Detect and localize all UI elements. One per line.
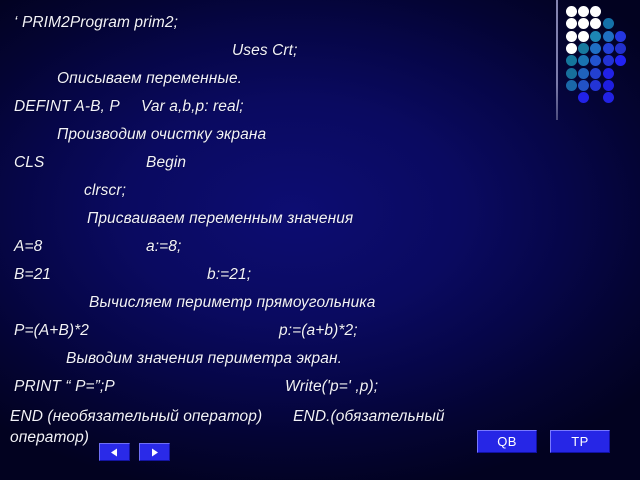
code-line-left: Выводим значения периметра экран.: [66, 350, 342, 368]
code-line-left: A=8: [14, 238, 42, 256]
code-line: Производим очистку экрана: [0, 126, 640, 154]
navigation-buttons: [99, 443, 170, 461]
code-line-right: Var a,b,p: real;: [141, 98, 244, 116]
code-line: ‘ PRIM2Program prim2;: [0, 14, 640, 42]
code-line: clrscr;: [0, 182, 640, 210]
code-line-left: Производим очистку экрана: [57, 126, 266, 144]
code-line-left: B=21: [14, 266, 51, 284]
previous-slide-button[interactable]: [99, 443, 130, 461]
triangle-right-icon: [149, 447, 160, 458]
code-line-right: p:=(a+b)*2;: [279, 322, 358, 340]
code-line-right: clrscr;: [84, 182, 126, 200]
code-line: CLSBegin: [0, 154, 640, 182]
slide-text-body: ‘ PRIM2Program prim2;Uses Crt;Описываем …: [0, 14, 640, 452]
code-line-left: DEFINT A-B, P: [14, 98, 120, 116]
code-line-left: P=(A+B)*2: [14, 322, 89, 340]
code-line: PRINT “ P=”;PWrite('p=' ,p);: [0, 378, 640, 406]
code-line: Присваиваем переменным значения: [0, 210, 640, 238]
code-line-left: Присваиваем переменным значения: [87, 210, 353, 228]
triangle-left-icon: [109, 447, 120, 458]
code-line-left: ‘ PRIM2Program prim2;: [14, 14, 178, 32]
code-line: Выводим значения периметра экран.: [0, 350, 640, 378]
qb-button[interactable]: QB: [477, 430, 537, 453]
code-line-final-text: END (необязательный оператор) END.(обяза…: [10, 406, 520, 448]
code-line: Uses Crt;: [0, 42, 640, 70]
slide-canvas: ‘ PRIM2Program prim2;Uses Crt;Описываем …: [0, 0, 640, 480]
code-line: Вычисляем периметр прямоугольника: [0, 294, 640, 322]
code-line-right: Write('p=' ,p);: [285, 378, 378, 396]
tp-button[interactable]: TP: [550, 430, 610, 453]
code-line-left: Вычисляем периметр прямоугольника: [89, 294, 375, 312]
code-line-left: Описываем переменные.: [57, 70, 242, 88]
code-line-right: a:=8;: [146, 238, 181, 256]
code-line-right: b:=21;: [207, 266, 251, 284]
code-line: B=21b:=21;: [0, 266, 640, 294]
code-line: DEFINT A-B, PVar a,b,p: real;: [0, 98, 640, 126]
code-line-right: Uses Crt;: [232, 42, 298, 60]
code-line: P=(A+B)*2p:=(a+b)*2;: [0, 322, 640, 350]
code-line-left: CLS: [14, 154, 44, 172]
language-buttons: QB TP: [477, 430, 610, 453]
code-line-right: Begin: [146, 154, 186, 172]
code-line-left: PRINT “ P=”;P: [14, 378, 115, 396]
next-slide-button[interactable]: [139, 443, 170, 461]
code-line: A=8a:=8;: [0, 238, 640, 266]
code-line: Описываем переменные.: [0, 70, 640, 98]
